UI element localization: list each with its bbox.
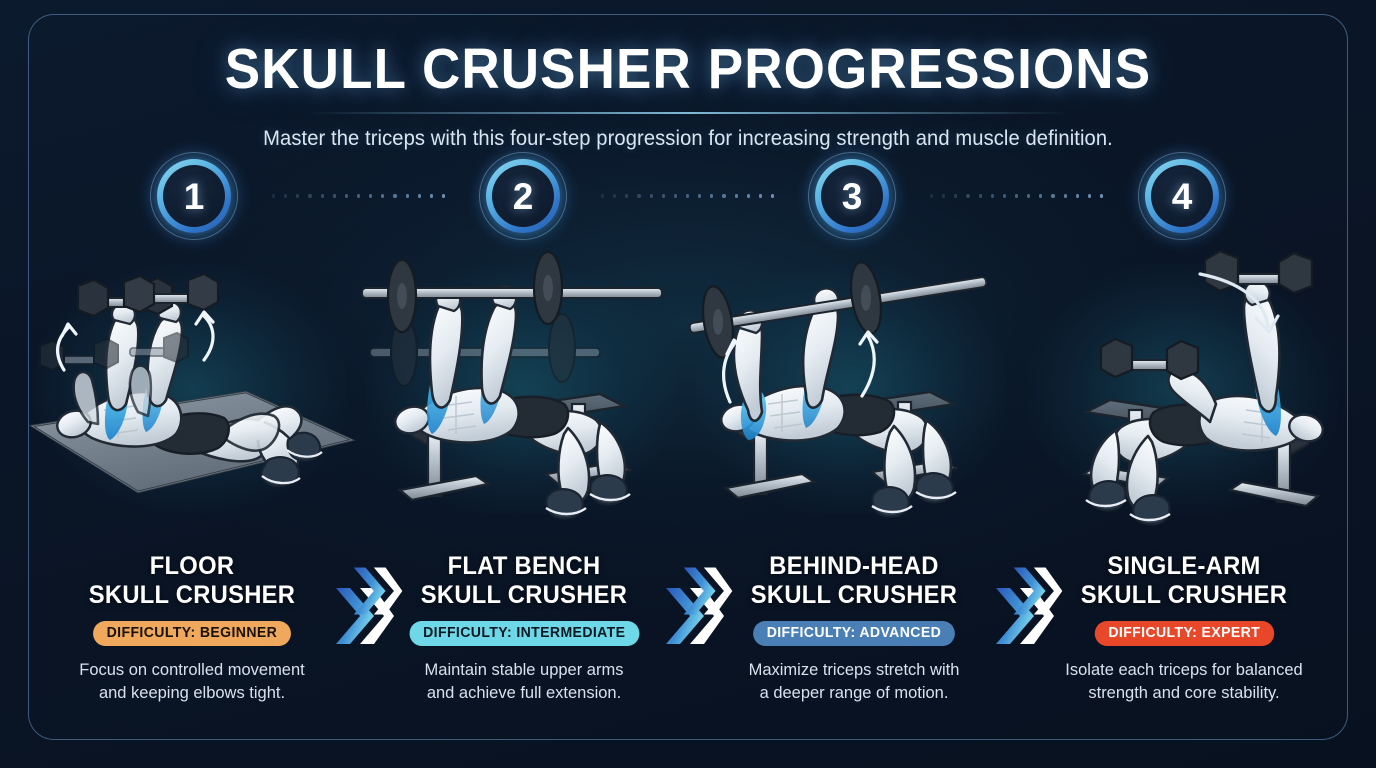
step-connector-1-2 xyxy=(272,194,454,198)
step-number-row: 1 2 xyxy=(0,152,1376,244)
step-description-line-2: strength and core stability. xyxy=(1088,683,1279,702)
illustration-row xyxy=(0,244,1376,544)
step-title-line-2: SKULL CRUSHER xyxy=(89,581,295,609)
step-description: Isolate each triceps for balanced streng… xyxy=(1039,659,1330,705)
infographic-canvas: SKULL CRUSHER PROGRESSIONS Master the tr… xyxy=(0,0,1376,768)
dumbbell-icon xyxy=(1101,339,1198,379)
difficulty-badge: DIFFICULTY: EXPERT xyxy=(1095,621,1274,646)
step-description: Maximize triceps stretch with a deeper r… xyxy=(709,659,1000,705)
step-title: SINGLE-ARM SKULL CRUSHER xyxy=(1042,552,1327,610)
step-description-line-1: Isolate each triceps for balanced xyxy=(1065,660,1302,679)
step-description: Maintain stable upper arms and achieve f… xyxy=(379,659,670,705)
step-title: FLOOR SKULL CRUSHER xyxy=(50,552,335,610)
page-title: SKULL CRUSHER PROGRESSIONS xyxy=(48,36,1328,102)
step-title-line-1: SINGLE-ARM xyxy=(1107,552,1260,580)
title-divider xyxy=(308,112,1068,114)
step-card-1: FLOOR SKULL CRUSHER DIFFICULTY: BEGINNER… xyxy=(42,552,342,705)
step-number-label: 4 xyxy=(1172,178,1193,215)
badge-core: 1 xyxy=(163,165,225,227)
badge-core: 3 xyxy=(821,165,883,227)
illustration-flat-bench-skull-crusher xyxy=(356,244,686,544)
step-description-line-2: and achieve full extension. xyxy=(427,683,621,702)
step-number-label: 1 xyxy=(184,178,205,215)
step-description: Focus on controlled movement and keeping… xyxy=(47,659,338,705)
illustration-floor-skull-crusher xyxy=(26,244,356,544)
step-title-line-2: SKULL CRUSHER xyxy=(1081,581,1287,609)
step-number-label: 3 xyxy=(842,178,863,215)
step-title-line-2: SKULL CRUSHER xyxy=(751,581,957,609)
flat-bench-skull-crusher-figure xyxy=(356,244,686,544)
step-description-line-1: Maximize triceps stretch with xyxy=(749,660,960,679)
step-number-label: 2 xyxy=(513,178,534,215)
step-connector-3-4 xyxy=(930,194,1112,198)
step-badge-3[interactable]: 3 xyxy=(808,152,896,240)
difficulty-badge: DIFFICULTY: ADVANCED xyxy=(753,621,955,646)
difficulty-badge: DIFFICULTY: INTERMEDIATE xyxy=(409,621,638,646)
step-description-line-2: and keeping elbows tight. xyxy=(99,683,285,702)
step-card-2: FLAT BENCH SKULL CRUSHER DIFFICULTY: INT… xyxy=(374,552,674,705)
step-title-line-1: FLOOR xyxy=(150,552,235,580)
badge-core: 2 xyxy=(492,165,554,227)
step-badge-1[interactable]: 1 xyxy=(150,152,238,240)
single-arm-skull-crusher-figure xyxy=(1018,244,1348,544)
step-cards-row: FLOOR SKULL CRUSHER DIFFICULTY: BEGINNER… xyxy=(0,552,1376,722)
step-title-line-1: FLAT BENCH xyxy=(448,552,601,580)
dumbbell-icon xyxy=(40,339,118,370)
badge-core: 4 xyxy=(1151,165,1213,227)
floor-skull-crusher-figure xyxy=(26,244,356,544)
step-connector-2-3 xyxy=(601,194,783,198)
step-title-line-2: SKULL CRUSHER xyxy=(421,581,627,609)
step-description-line-1: Maintain stable upper arms xyxy=(425,660,624,679)
behind-head-skull-crusher-figure xyxy=(686,244,1016,544)
step-description-line-2: a deeper range of motion. xyxy=(760,683,949,702)
step-badge-2[interactable]: 2 xyxy=(479,152,567,240)
illustration-single-arm-skull-crusher xyxy=(1018,244,1348,544)
illustration-behind-head-skull-crusher xyxy=(686,244,1016,544)
step-card-3: BEHIND-HEAD SKULL CRUSHER DIFFICULTY: AD… xyxy=(704,552,1004,705)
step-title: FLAT BENCH SKULL CRUSHER xyxy=(382,552,667,610)
step-card-4: SINGLE-ARM SKULL CRUSHER DIFFICULTY: EXP… xyxy=(1034,552,1334,705)
step-title: BEHIND-HEAD SKULL CRUSHER xyxy=(712,552,997,610)
step-description-line-1: Focus on controlled movement xyxy=(79,660,304,679)
difficulty-badge: DIFFICULTY: BEGINNER xyxy=(93,621,291,646)
step-badge-4[interactable]: 4 xyxy=(1138,152,1226,240)
page-subtitle: Master the triceps with this four-step p… xyxy=(28,127,1349,151)
step-title-line-1: BEHIND-HEAD xyxy=(769,552,938,580)
header: SKULL CRUSHER PROGRESSIONS Master the tr… xyxy=(0,36,1376,151)
